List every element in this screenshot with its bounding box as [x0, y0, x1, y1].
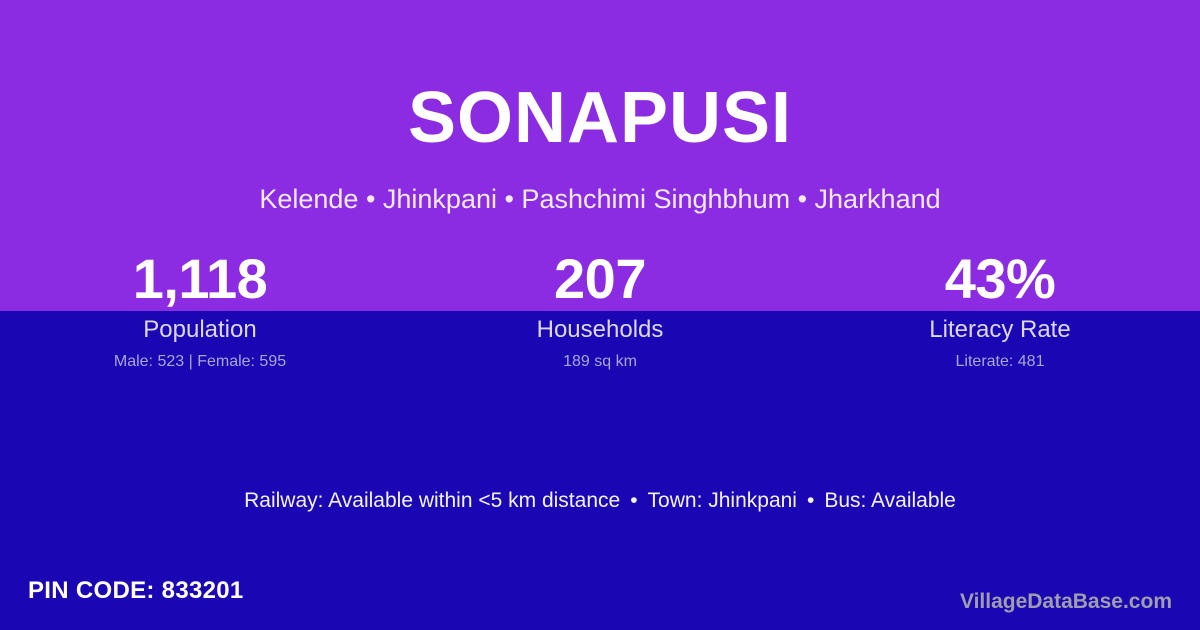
site-watermark: VillageDataBase.com: [960, 589, 1172, 615]
facility-town: Town: Jhinkpani: [648, 489, 797, 512]
facility-bus: Bus: Available: [824, 489, 956, 512]
stat-households-sub: 189 sq km: [400, 352, 800, 372]
stat-literacy-rate: 43% Literacy Rate Literate: 481: [800, 248, 1200, 372]
stats-row: 1,118 Population Male: 523 | Female: 595…: [0, 248, 1200, 372]
stat-literacy-rate-sub: Literate: 481: [800, 352, 1200, 372]
stat-households-label: Households: [400, 316, 800, 344]
stat-population-label: Population: [0, 316, 400, 344]
stat-population: 1,118 Population Male: 523 | Female: 595: [0, 248, 400, 372]
facilities-line: Railway: Available within <5 km distance…: [0, 488, 1200, 514]
stat-households: 207 Households 189 sq km: [400, 248, 800, 372]
facility-separator-2: •: [797, 488, 824, 514]
facility-separator-1: •: [620, 488, 647, 514]
page-title: SONAPUSI: [0, 82, 1200, 154]
stat-households-value: 207: [400, 248, 800, 310]
facility-railway: Railway: Available within <5 km distance: [244, 489, 620, 512]
location-breadcrumb: Kelende • Jhinkpani • Pashchimi Singhbhu…: [0, 183, 1200, 215]
stat-literacy-rate-value: 43%: [800, 248, 1200, 310]
village-info-card: SONAPUSI Kelende • Jhinkpani • Pashchimi…: [0, 0, 1200, 630]
stat-literacy-rate-label: Literacy Rate: [800, 316, 1200, 344]
stat-population-value: 1,118: [0, 248, 400, 310]
pin-code: PIN CODE: 833201: [28, 577, 244, 605]
stat-population-sub: Male: 523 | Female: 595: [0, 352, 400, 372]
